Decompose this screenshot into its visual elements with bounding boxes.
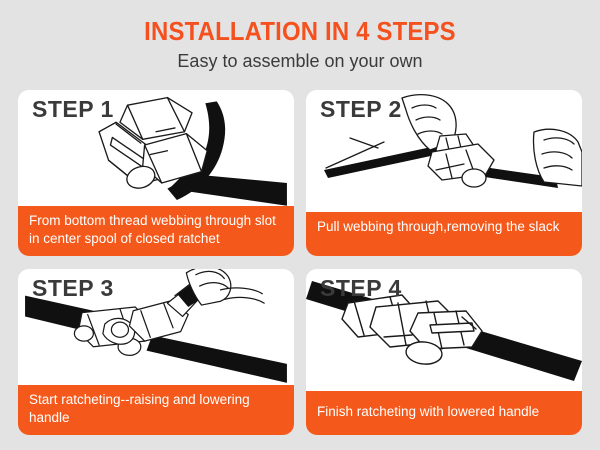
step-1-artwork: STEP 1 — [18, 90, 294, 206]
step-card-3: STEP 3 — [18, 269, 294, 435]
steps-grid: STEP 1 — [18, 90, 582, 435]
step-3-label: STEP 3 — [32, 277, 114, 300]
step-card-4: STEP 4 — [306, 269, 582, 435]
step-2-artwork: STEP 2 — [306, 90, 582, 212]
infographic-page: INSTALLATION IN 4 STEPS Easy to assemble… — [0, 0, 600, 450]
step-4-artwork: STEP 4 — [306, 269, 582, 391]
step-3-caption-bar: Start ratcheting--raising and lowering h… — [18, 385, 294, 435]
step-1-caption-bar: From bottom thread webbing through slot … — [18, 206, 294, 256]
step-4-caption-bar: Finish ratcheting with lowered handle — [306, 391, 582, 435]
page-title: INSTALLATION IN 4 STEPS — [24, 18, 576, 45]
step-3-artwork: STEP 3 — [18, 269, 294, 385]
step-3-caption-text: Start ratcheting--raising and lowering h… — [29, 391, 284, 428]
step-4-caption-text: Finish ratcheting with lowered handle — [317, 403, 539, 422]
step-4-label: STEP 4 — [320, 277, 402, 300]
step-2-caption-bar: Pull webbing through,removing the slack — [306, 212, 582, 256]
step-2-label: STEP 2 — [320, 98, 402, 121]
step-card-2: STEP 2 — [306, 90, 582, 256]
step-1-caption-text: From bottom thread webbing through slot … — [29, 212, 284, 249]
step-card-1: STEP 1 — [18, 90, 294, 256]
step-1-label: STEP 1 — [32, 98, 114, 121]
page-subtitle: Easy to assemble on your own — [0, 52, 600, 72]
step-2-caption-text: Pull webbing through,removing the slack — [317, 218, 559, 237]
header: INSTALLATION IN 4 STEPS Easy to assemble… — [0, 0, 600, 72]
